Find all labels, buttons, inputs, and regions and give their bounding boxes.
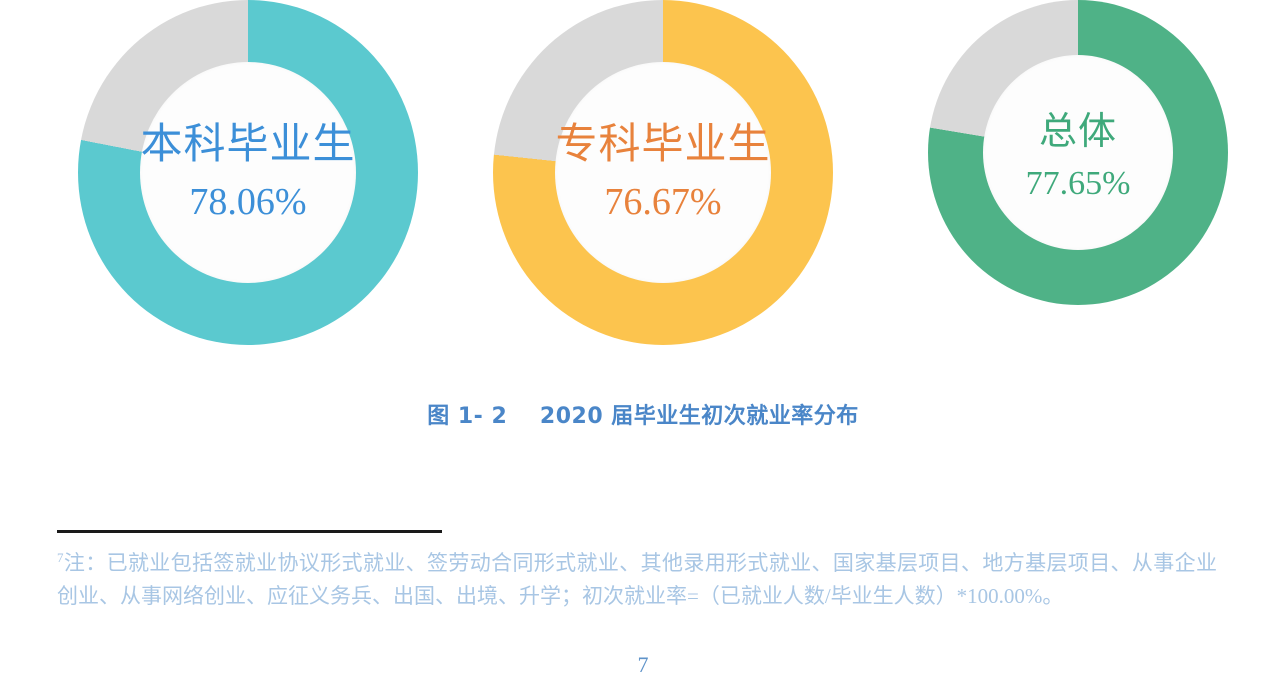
donut-hole-undergraduate bbox=[140, 62, 356, 283]
footnote-block: 7注：已就业包括签就业协议形式就业、签劳动合同形式就业、其他录用形式就业、国家基… bbox=[57, 541, 1217, 613]
donut-value-vocational: 76.67% bbox=[493, 183, 833, 223]
footnote-text: 注：已就业包括签就业协议形式就业、签劳动合同形式就业、其他录用形式就业、国家基层… bbox=[57, 551, 1217, 608]
donut-title-vocational: 专科毕业生 bbox=[493, 122, 833, 166]
footnote-divider bbox=[57, 530, 442, 533]
donut-chart-vocational: 专科毕业生 76.67% bbox=[493, 0, 833, 345]
page-number: 7 bbox=[0, 652, 1286, 678]
donut-title-overall: 总体 bbox=[928, 112, 1228, 152]
donut-charts-row: 本科毕业生 78.06% 专科毕业生 76.67% 总体 77.65% bbox=[0, 0, 1286, 355]
donut-value-undergraduate: 78.06% bbox=[78, 183, 418, 223]
donut-title-undergraduate: 本科毕业生 bbox=[78, 122, 418, 166]
donut-chart-overall: 总体 77.65% bbox=[928, 0, 1228, 305]
figure-caption: 图 1- 2 2020 届毕业生初次就业率分布 bbox=[0, 398, 1286, 430]
donut-chart-undergraduate: 本科毕业生 78.06% bbox=[78, 0, 418, 345]
donut-hole-vocational bbox=[555, 62, 771, 283]
donut-value-overall: 77.65% bbox=[928, 166, 1228, 202]
